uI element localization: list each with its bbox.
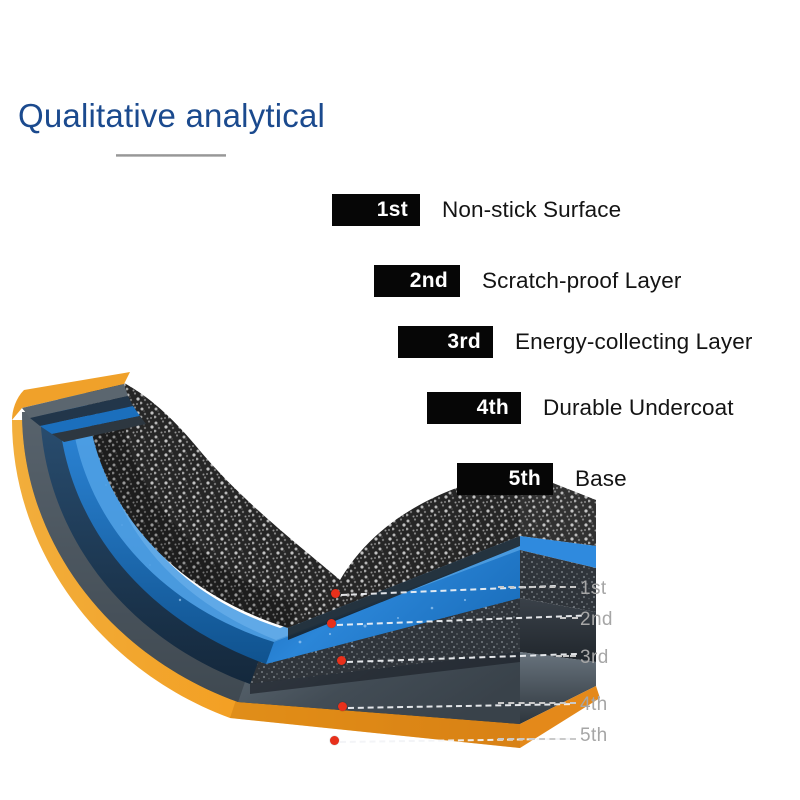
legend-badge-3rd: 3rd	[398, 326, 493, 358]
legend-row-1st[interactable]: 1st Non-stick Surface	[332, 194, 621, 226]
callout-dot-4th	[338, 702, 347, 711]
page-title: Qualitative analytical	[18, 97, 325, 135]
legend-row-5th[interactable]: 5th Base	[457, 463, 627, 495]
callout-leader-4th	[498, 702, 576, 704]
callout-leader-1st	[498, 586, 576, 588]
legend-row-2nd[interactable]: 2nd Scratch-proof Layer	[374, 265, 682, 297]
callout-dot-2nd	[327, 619, 336, 628]
callout-label-1st: 1st	[580, 578, 607, 600]
callout-dot-5th	[330, 736, 339, 745]
title-underline-rule	[116, 154, 226, 157]
legend-badge-4th: 4th	[427, 392, 521, 424]
callout-label-2nd: 2nd	[580, 609, 613, 631]
legend-label-5th: Base	[575, 466, 627, 492]
callout-leader-2nd	[560, 617, 578, 619]
callout-label-5th: 5th	[580, 725, 608, 747]
legend-badge-1st: 1st	[332, 194, 420, 226]
callout-leader-3rd	[556, 655, 576, 657]
legend-badge-5th: 5th	[457, 463, 553, 495]
legend-label-1st: Non-stick Surface	[442, 197, 621, 223]
infographic-canvas: Qualitative analytical	[0, 0, 800, 800]
callout-dot-3rd	[337, 656, 346, 665]
legend-label-2nd: Scratch-proof Layer	[482, 268, 682, 294]
callout-label-4th: 4th	[580, 694, 608, 716]
callout-dot-1st	[331, 589, 340, 598]
callout-leader-5th	[498, 738, 576, 740]
legend-badge-2nd: 2nd	[374, 265, 460, 297]
legend-row-3rd[interactable]: 3rd Energy-collecting Layer	[398, 326, 752, 358]
legend-row-4th[interactable]: 4th Durable Undercoat	[427, 392, 734, 424]
legend-label-4th: Durable Undercoat	[543, 395, 734, 421]
legend-label-3rd: Energy-collecting Layer	[515, 329, 752, 355]
callout-label-3rd: 3rd	[580, 647, 609, 669]
